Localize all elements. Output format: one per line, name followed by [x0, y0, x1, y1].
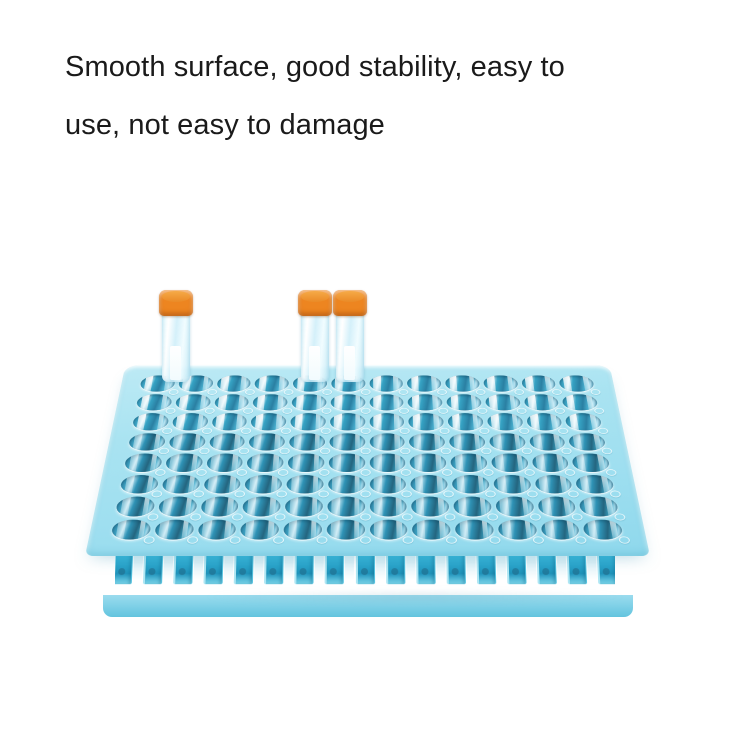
test-tube-body [301, 312, 329, 382]
rack-well[interactable] [410, 475, 448, 494]
rack-well[interactable] [197, 519, 237, 539]
rack-well[interactable] [252, 394, 288, 411]
rack-well[interactable] [408, 413, 444, 430]
rack-well[interactable] [213, 394, 249, 411]
rack-well[interactable] [171, 413, 208, 430]
rack-well-grid [110, 375, 624, 539]
rack-well[interactable] [135, 394, 172, 411]
rack-well[interactable] [287, 453, 324, 471]
rack-well[interactable] [369, 433, 405, 451]
rack-well[interactable] [290, 413, 326, 430]
rack-well[interactable] [164, 453, 203, 471]
product-image-page: Smooth surface, good stability, easy to … [0, 0, 750, 750]
rack-well[interactable] [115, 497, 156, 517]
rack-well[interactable] [578, 497, 619, 517]
rack-well[interactable] [369, 394, 404, 411]
rack-well[interactable] [369, 453, 405, 471]
rack-well[interactable] [119, 475, 159, 494]
rack-well[interactable] [561, 394, 598, 411]
rack-well[interactable] [449, 433, 486, 451]
test-tube-cap[interactable] [333, 290, 367, 316]
rack-well[interactable] [523, 394, 560, 411]
rack-well[interactable] [369, 375, 403, 391]
rack-well[interactable] [486, 413, 523, 430]
rack-well[interactable] [200, 497, 240, 517]
rack-deck [85, 366, 650, 556]
rack-well[interactable] [174, 394, 211, 411]
rack-well[interactable] [328, 453, 364, 471]
rack-well[interactable] [248, 433, 285, 451]
rack-well[interactable] [240, 519, 280, 539]
rack-well[interactable] [286, 475, 324, 494]
rack-well[interactable] [582, 519, 624, 539]
rack-well[interactable] [326, 519, 364, 539]
rack-well[interactable] [283, 519, 322, 539]
rack-well[interactable] [211, 413, 248, 430]
rack-well[interactable] [450, 453, 488, 471]
rack-well[interactable] [132, 413, 170, 430]
rack-well[interactable] [534, 475, 573, 494]
rack-well[interactable] [408, 394, 443, 411]
rack-well[interactable] [483, 375, 519, 391]
rack-well[interactable] [203, 475, 242, 494]
rack-well[interactable] [168, 433, 206, 451]
rack-well[interactable] [411, 497, 449, 517]
rack-well[interactable] [540, 519, 581, 539]
rack-well[interactable] [528, 433, 566, 451]
test-tube-cap[interactable] [298, 290, 332, 316]
rack-well[interactable] [409, 433, 445, 451]
rack-well[interactable] [291, 394, 326, 411]
rack-well[interactable] [453, 497, 492, 517]
rack-well[interactable] [571, 453, 610, 471]
rack-well[interactable] [369, 519, 407, 539]
rack-well[interactable] [157, 497, 197, 517]
rack-well[interactable] [521, 375, 557, 391]
rack-well[interactable] [410, 453, 447, 471]
rack-well[interactable] [531, 453, 570, 471]
rack-well[interactable] [485, 394, 521, 411]
rack-well[interactable] [328, 475, 365, 494]
rack-well[interactable] [329, 433, 365, 451]
rack-shadow [205, 590, 625, 604]
product-photo [0, 250, 750, 650]
rack-well[interactable] [497, 519, 537, 539]
rack-well[interactable] [575, 475, 615, 494]
page-caption: Smooth surface, good stability, easy to … [65, 38, 705, 154]
rack-well[interactable] [491, 453, 529, 471]
rack-well[interactable] [369, 497, 407, 517]
rack-well[interactable] [447, 413, 483, 430]
rack-well[interactable] [153, 519, 194, 539]
rack-well[interactable] [128, 433, 167, 451]
rack-well[interactable] [445, 375, 480, 391]
rack-well[interactable] [110, 519, 152, 539]
rack-well[interactable] [446, 394, 482, 411]
rack-well[interactable] [568, 433, 607, 451]
rack-well[interactable] [558, 375, 595, 391]
rack-well[interactable] [123, 453, 162, 471]
rack-well[interactable] [493, 475, 532, 494]
rack-well[interactable] [285, 497, 323, 517]
rack-well[interactable] [161, 475, 200, 494]
rack-well[interactable] [412, 519, 451, 539]
rack-well[interactable] [327, 497, 365, 517]
test-tube-rack [85, 288, 650, 598]
rack-well[interactable] [565, 413, 603, 430]
rack-well[interactable] [250, 413, 286, 430]
rack-well[interactable] [369, 475, 406, 494]
rack-well[interactable] [488, 433, 525, 451]
rack-well[interactable] [289, 433, 325, 451]
rack-well[interactable] [216, 375, 252, 391]
rack-well[interactable] [254, 375, 289, 391]
rack-well[interactable] [369, 413, 404, 430]
test-tube-cap[interactable] [159, 290, 193, 316]
rack-well[interactable] [330, 394, 365, 411]
rack-well[interactable] [330, 413, 365, 430]
rack-well[interactable] [452, 475, 490, 494]
rack-well[interactable] [208, 433, 245, 451]
test-tube[interactable] [159, 290, 193, 382]
rack-well[interactable] [495, 497, 535, 517]
rack-well[interactable] [242, 497, 281, 517]
rack-well[interactable] [205, 453, 243, 471]
test-tube-body [162, 312, 190, 382]
test-tube[interactable] [298, 290, 332, 382]
rack-well[interactable] [244, 475, 282, 494]
rack-well[interactable] [407, 375, 442, 391]
rack-well[interactable] [246, 453, 284, 471]
rack-well[interactable] [526, 413, 563, 430]
rack-well[interactable] [537, 497, 577, 517]
test-tube[interactable] [333, 290, 367, 382]
test-tube-body [336, 312, 364, 382]
rack-well[interactable] [455, 519, 495, 539]
